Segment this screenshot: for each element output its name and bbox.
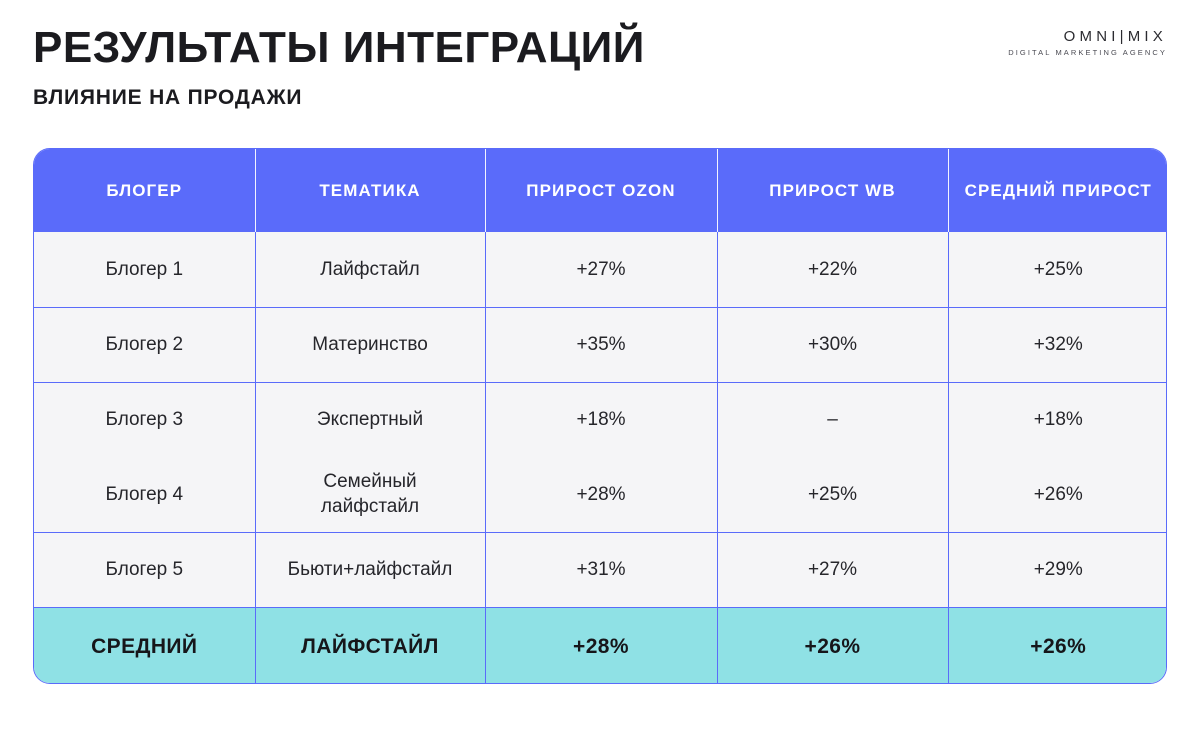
cell-topic: Бьюти+лайфстайл bbox=[255, 532, 485, 607]
summary-cell-blogger: СРЕДНИЙ bbox=[34, 607, 255, 684]
page-title: РЕЗУЛЬТАТЫ ИНТЕГРАЦИЙ bbox=[33, 24, 1167, 72]
cell-blogger: Блогер 4 bbox=[34, 457, 255, 532]
cell-topic: Семейный лайфстайл bbox=[255, 457, 485, 532]
cell-wb: +25% bbox=[717, 457, 948, 532]
cell-avg: +29% bbox=[948, 532, 1167, 607]
cell-ozon: +28% bbox=[485, 457, 717, 532]
cell-topic-line2: лайфстайл bbox=[264, 494, 477, 519]
cell-blogger: Блогер 1 bbox=[34, 232, 255, 307]
table-row: Блогер 4 Семейный лайфстайл +28% +25% +2… bbox=[34, 457, 1167, 532]
cell-wb: +22% bbox=[717, 232, 948, 307]
column-header-blogger: БЛОГЕР bbox=[34, 149, 255, 232]
cell-ozon: +18% bbox=[485, 382, 717, 457]
results-table-container: БЛОГЕР ТЕМАТИКА ПРИРОСТ OZON ПРИРОСТ WB … bbox=[33, 148, 1167, 684]
table-row: Блогер 5 Бьюти+лайфстайл +31% +27% +29% bbox=[34, 532, 1167, 607]
cell-avg: +18% bbox=[948, 382, 1167, 457]
cell-topic: Экспертный bbox=[255, 382, 485, 457]
cell-ozon: +31% bbox=[485, 532, 717, 607]
cell-avg: +26% bbox=[948, 457, 1167, 532]
summary-cell-wb: +26% bbox=[717, 607, 948, 684]
table-row: Блогер 2 Материнство +35% +30% +32% bbox=[34, 307, 1167, 382]
cell-avg: +32% bbox=[948, 307, 1167, 382]
cell-ozon: +35% bbox=[485, 307, 717, 382]
cell-wb: +30% bbox=[717, 307, 948, 382]
cell-blogger: Блогер 5 bbox=[34, 532, 255, 607]
column-header-topic: ТЕМАТИКА bbox=[255, 149, 485, 232]
table-row: Блогер 1 Лайфстайл +27% +22% +25% bbox=[34, 232, 1167, 307]
logo-wordmark: OMNI|MIX bbox=[1008, 28, 1167, 45]
table-header-row: БЛОГЕР ТЕМАТИКА ПРИРОСТ OZON ПРИРОСТ WB … bbox=[34, 149, 1167, 232]
column-header-ozon: ПРИРОСТ OZON bbox=[485, 149, 717, 232]
table-summary-row: СРЕДНИЙ ЛАЙФСТАЙЛ +28% +26% +26% bbox=[34, 607, 1167, 684]
cell-blogger: Блогер 3 bbox=[34, 382, 255, 457]
table-header: БЛОГЕР ТЕМАТИКА ПРИРОСТ OZON ПРИРОСТ WB … bbox=[34, 149, 1167, 232]
summary-cell-ozon: +28% bbox=[485, 607, 717, 684]
logo-tagline: DIGITAL MARKETING AGENCY bbox=[1008, 48, 1167, 58]
cell-wb: – bbox=[717, 382, 948, 457]
slide-root: РЕЗУЛЬТАТЫ ИНТЕГРАЦИЙ ВЛИЯНИЕ НА ПРОДАЖИ… bbox=[0, 0, 1200, 730]
column-header-wb: ПРИРОСТ WB bbox=[717, 149, 948, 232]
slide-header: РЕЗУЛЬТАТЫ ИНТЕГРАЦИЙ ВЛИЯНИЕ НА ПРОДАЖИ bbox=[33, 24, 1167, 124]
cell-blogger: Блогер 2 bbox=[34, 307, 255, 382]
column-header-avg: СРЕДНИЙ ПРИРОСТ bbox=[948, 149, 1167, 232]
cell-avg: +25% bbox=[948, 232, 1167, 307]
cell-topic: Материнство bbox=[255, 307, 485, 382]
summary-cell-topic: ЛАЙФСТАЙЛ bbox=[255, 607, 485, 684]
table-body: Блогер 1 Лайфстайл +27% +22% +25% Блогер… bbox=[34, 232, 1167, 684]
cell-wb: +27% bbox=[717, 532, 948, 607]
results-table: БЛОГЕР ТЕМАТИКА ПРИРОСТ OZON ПРИРОСТ WB … bbox=[34, 149, 1167, 684]
table-row: Блогер 3 Экспертный +18% – +18% bbox=[34, 382, 1167, 457]
brand-logo: OMNI|MIX DIGITAL MARKETING AGENCY bbox=[1008, 28, 1167, 58]
cell-ozon: +27% bbox=[485, 232, 717, 307]
summary-cell-avg: +26% bbox=[948, 607, 1167, 684]
page-subtitle: ВЛИЯНИЕ НА ПРОДАЖИ bbox=[33, 86, 1167, 110]
cell-topic: Лайфстайл bbox=[255, 232, 485, 307]
cell-topic-line1: Семейный bbox=[264, 469, 477, 494]
